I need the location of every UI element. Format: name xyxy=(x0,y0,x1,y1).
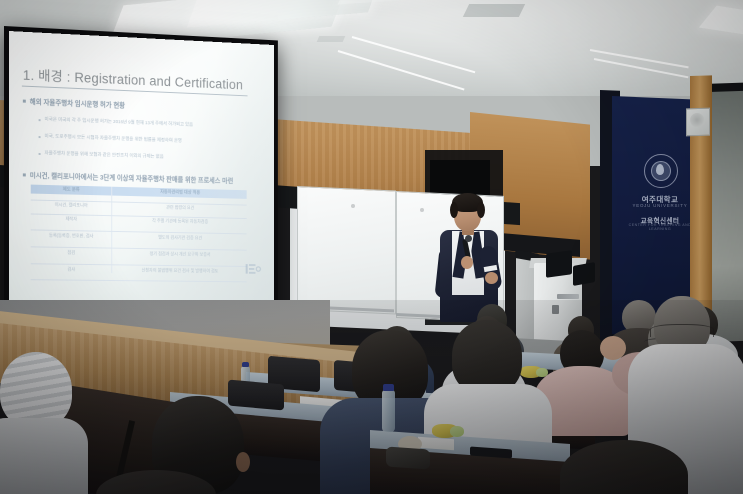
attendee-body-foreground xyxy=(0,418,88,494)
attendee-head-foreground xyxy=(452,320,522,394)
bottle-cap xyxy=(383,384,394,391)
lecture-hall-photo: 여주대학교 YEOJU UNIVERSITY 교육혁신센터 CENTER FOR… xyxy=(0,0,743,494)
whiteboard-magnet xyxy=(420,208,424,212)
banner-center-name-en: CENTER FOR TEACHING AND LEARNING xyxy=(624,223,696,231)
chair-back[interactable] xyxy=(228,380,284,411)
projection-screen: 1. 배경 : Registration and Certification 해… xyxy=(9,31,274,313)
podium-port-panel[interactable] xyxy=(552,305,559,314)
eyeglasses-icon xyxy=(650,324,714,337)
folded-garment[interactable] xyxy=(386,446,430,469)
ceiling-vent xyxy=(317,36,346,42)
presenter-hair-side xyxy=(477,202,485,218)
podium-logo-icon xyxy=(557,294,579,299)
presenter-left-hand xyxy=(461,256,473,269)
presenter-right-hand xyxy=(485,272,498,284)
university-emblem-drop-icon xyxy=(656,164,664,175)
podium-monitor[interactable] xyxy=(573,262,595,286)
attendee-head-foreground xyxy=(0,352,72,428)
door-glass xyxy=(709,91,743,342)
whiteboard-magnet xyxy=(351,204,355,208)
bottle-cap xyxy=(242,362,249,367)
ceiling-vent xyxy=(463,4,525,17)
attendee-ear xyxy=(236,452,250,472)
banner-university-name-en: YEOJU UNIVERSITY xyxy=(628,203,692,208)
microphone-head-icon xyxy=(465,235,472,242)
podium-monitor[interactable] xyxy=(546,250,572,278)
presenter-hair-side xyxy=(450,202,458,218)
screen-shading xyxy=(9,31,274,313)
whiteboard-left[interactable] xyxy=(297,186,396,314)
water-bottle[interactable] xyxy=(382,390,395,432)
snack-item[interactable] xyxy=(450,426,464,437)
attendee-hand xyxy=(600,336,626,360)
